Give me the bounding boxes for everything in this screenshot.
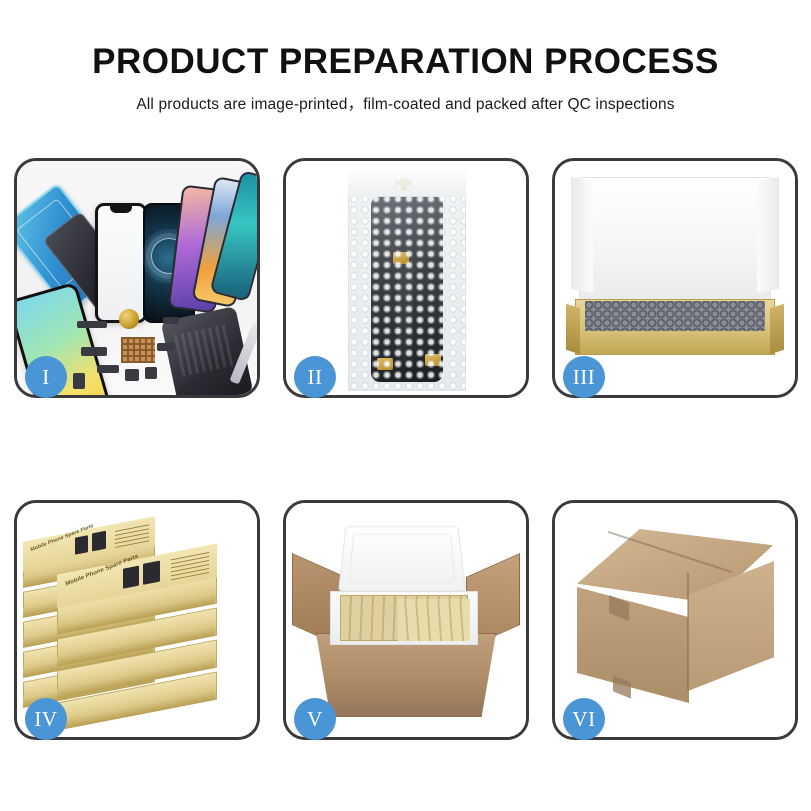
gold-connector-icon (425, 354, 441, 366)
box-label-screen-thumb (75, 535, 88, 555)
page-title: PRODUCT PREPARATION PROCESS (0, 44, 811, 81)
small-part-icon (145, 367, 157, 379)
small-part-icon (163, 317, 179, 324)
small-part-icon (73, 373, 85, 389)
flex-cable-icon (397, 258, 413, 362)
bubble-wrap-bag-icon (348, 171, 466, 391)
box-label-spec-lines (171, 550, 209, 580)
small-part-icon (125, 369, 139, 381)
carton-body-icon (316, 633, 496, 717)
small-part-icon (97, 365, 119, 373)
foam-box-lid-icon (338, 526, 466, 591)
process-step-panel-6: VI (552, 500, 798, 740)
wrapped-lcd-screen-icon (371, 196, 443, 382)
box-label-screen-thumb (92, 531, 106, 552)
small-part-icon (81, 347, 107, 356)
step-badge-3: III (563, 356, 605, 398)
box-label-screen-thumb (143, 561, 160, 585)
gold-connector-icon (393, 252, 409, 264)
lid-left-flap-icon (571, 177, 593, 293)
step-badge-2: II (294, 356, 336, 398)
step-badge-6: VI (563, 698, 605, 740)
process-step-panel-1: I (14, 158, 260, 398)
connector-chip-grid-icon (121, 337, 155, 363)
box-label-spec-lines (115, 521, 149, 548)
carton-corner-seam-icon (687, 573, 689, 691)
carton-left-face-icon (577, 587, 689, 703)
lid-right-flap-icon (757, 177, 779, 293)
box-label-screen-thumb (123, 566, 139, 589)
process-step-panel-5: V (283, 500, 529, 740)
step-badge-1: I (25, 356, 67, 398)
process-steps-grid: I II (14, 158, 798, 796)
page-header: PRODUCT PREPARATION PROCESS All products… (0, 44, 811, 114)
product-preparation-process-page: PRODUCT PREPARATION PROCESS All products… (0, 0, 811, 811)
white-box-lid-icon (579, 177, 771, 303)
small-part-icon (77, 321, 107, 328)
step-badge-4: IV (25, 698, 67, 740)
phone-glass-panel-icon (95, 203, 147, 323)
dark-foam-padding-icon (585, 301, 765, 331)
small-part-icon (157, 343, 175, 351)
process-step-panel-2: II (283, 158, 529, 398)
gold-connector-icon (377, 358, 393, 370)
bag-top-fold-icon (348, 171, 466, 197)
process-step-panel-4: Mobile Phone Spare Parts Mobile Phone Sp… (14, 500, 260, 740)
gold-speaker-coil-icon (119, 309, 139, 329)
page-subtitle: All products are image-printed，film-coat… (0, 92, 811, 114)
packed-gold-boxes-row-icon (398, 599, 470, 641)
process-step-panel-3: III (552, 158, 798, 398)
step-badge-5: V (294, 698, 336, 740)
